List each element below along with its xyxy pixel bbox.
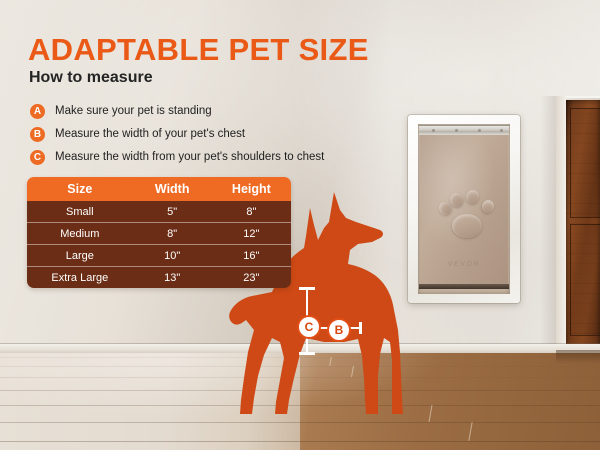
instruction-item: BMeasure the width of your pet's chest [30,123,330,145]
table-cell-width: 10" [133,250,212,262]
brand-embossed-text: VEVOR [440,261,488,271]
instruction-badge: C [30,150,45,165]
measure-marker-b: B [327,318,351,342]
instruction-list: AMake sure your pet is standingBMeasure … [30,100,330,169]
instruction-item: CMeasure the width from your pet's shoul… [30,146,330,168]
dimension-line-c-upper [306,288,308,316]
table-row: Extra Large13"23" [27,266,291,288]
dimension-cap-b-right [359,322,362,334]
table-cell-size: Extra Large [27,272,133,284]
instruction-badge: A [30,104,45,119]
screw-icon [455,129,458,132]
table-cell-size: Small [27,206,133,218]
table-cell-size: Large [27,250,133,262]
door-floor-shadow [556,350,600,364]
pet-door-bottom-rail [419,284,509,289]
column-header-height: Height [212,182,291,196]
column-header-width: Width [133,182,212,196]
table-cell-width: 13" [133,272,212,284]
page-title: ADAPTABLE PET SIZE [28,32,369,68]
table-header-row: Size Width Height [27,177,291,201]
table-row: Small5"8" [27,201,291,222]
table-cell-height: 23" [212,272,291,284]
table-cell-height: 12" [212,228,291,240]
door-casing-return [556,96,566,354]
instruction-text: Make sure your pet is standing [55,105,212,117]
screw-icon [478,129,481,132]
table-row: Large10"16" [27,244,291,266]
product-infographic: VEVOR C B ADAPTABLE PET SIZE How to meas… [0,0,600,450]
page-subtitle: How to measure [29,69,153,87]
dimension-cap-c-top [299,287,315,290]
instruction-text: Measure the width of your pet's chest [55,128,245,140]
dimension-cap-c-bottom [299,352,315,355]
table-body: Small5"8"Medium8"12"Large10"16"Extra Lar… [27,201,291,288]
table-cell-width: 5" [133,206,212,218]
table-cell-height: 8" [212,206,291,218]
screw-icon [500,129,503,132]
screw-icon [432,129,435,132]
table-cell-height: 16" [212,250,291,262]
wooden-door [566,100,600,350]
table-row: Medium8"12" [27,222,291,244]
instruction-item: AMake sure your pet is standing [30,100,330,122]
measure-marker-c: C [297,315,321,339]
table-cell-width: 8" [133,228,212,240]
table-cell-size: Medium [27,228,133,240]
size-chart-table: Size Width Height Small5"8"Medium8"12"La… [27,177,291,288]
instruction-badge: B [30,127,45,142]
instruction-text: Measure the width from your pet's should… [55,151,324,163]
column-header-size: Size [27,182,133,196]
